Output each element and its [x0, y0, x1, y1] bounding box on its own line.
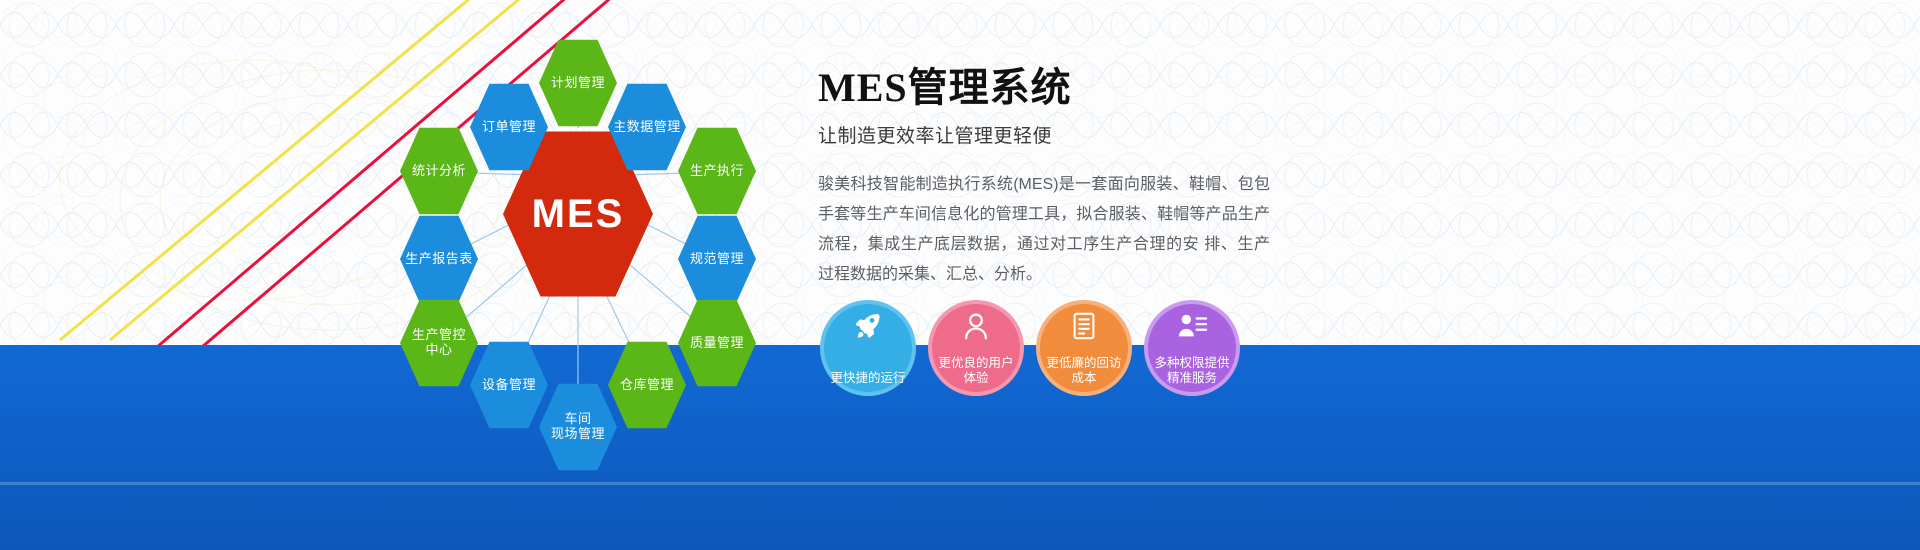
- user-list-icon: [1177, 311, 1207, 341]
- background-blue-stripe: [0, 482, 1920, 485]
- hex-node-label: 生产管控中心: [408, 328, 470, 358]
- hex-node-label: 生产报告表: [401, 252, 477, 267]
- hex-node-label: 生产执行: [686, 164, 748, 179]
- hex-node-label: 车间现场管理: [547, 412, 609, 442]
- feature-badge-row: 更快捷的运行更优良的用户体验更低廉的回访成本多种权限提供精准服务: [820, 300, 1260, 400]
- hex-node-label: 质量管理: [686, 336, 748, 351]
- list-icon: [1069, 311, 1099, 341]
- page-description: 骏美科技智能制造执行系统(MES)是一套面向服装、鞋帽、包包手套等生产车间信息化…: [818, 170, 1270, 290]
- page-subtitle: 让制造更效率让管理更轻便: [818, 121, 1338, 148]
- rocket-icon: [853, 311, 883, 341]
- hex-node-label: 统计分析: [408, 164, 470, 179]
- badge-label: 更快捷的运行: [825, 371, 911, 386]
- hex-core-label: MES: [528, 191, 629, 237]
- hex-node-label: 订单管理: [478, 120, 540, 135]
- hex-node-label: 计划管理: [547, 76, 609, 91]
- mes-hex-diagram: MES 计划管理订单管理主数据管理统计分析生产执行生产报告表规范管理生产管控中心…: [330, 10, 800, 430]
- hex-node-label: 仓库管理: [616, 378, 678, 393]
- user-icon: [961, 311, 991, 341]
- banner-stage: MES 计划管理订单管理主数据管理统计分析生产执行生产报告表规范管理生产管控中心…: [0, 0, 1920, 550]
- badge-label: 更低廉的回访成本: [1041, 356, 1127, 386]
- feature-badge-2[interactable]: 更优良的用户体验: [928, 300, 1024, 396]
- hex-node-label: 主数据管理: [609, 120, 685, 135]
- banner-text-block: MES管理系统 让制造更效率让管理更轻便 骏美科技智能制造执行系统(MES)是一…: [818, 55, 1338, 290]
- page-title: MES管理系统: [818, 55, 1338, 113]
- hex-node-label: 规范管理: [686, 252, 748, 267]
- badge-label: 更优良的用户体验: [933, 356, 1019, 386]
- feature-badge-3[interactable]: 更低廉的回访成本: [1036, 300, 1132, 396]
- badge-label: 多种权限提供精准服务: [1149, 356, 1235, 386]
- hex-node-label: 设备管理: [478, 378, 540, 393]
- feature-badge-4[interactable]: 多种权限提供精准服务: [1144, 300, 1240, 396]
- feature-badge-1[interactable]: 更快捷的运行: [820, 300, 916, 396]
